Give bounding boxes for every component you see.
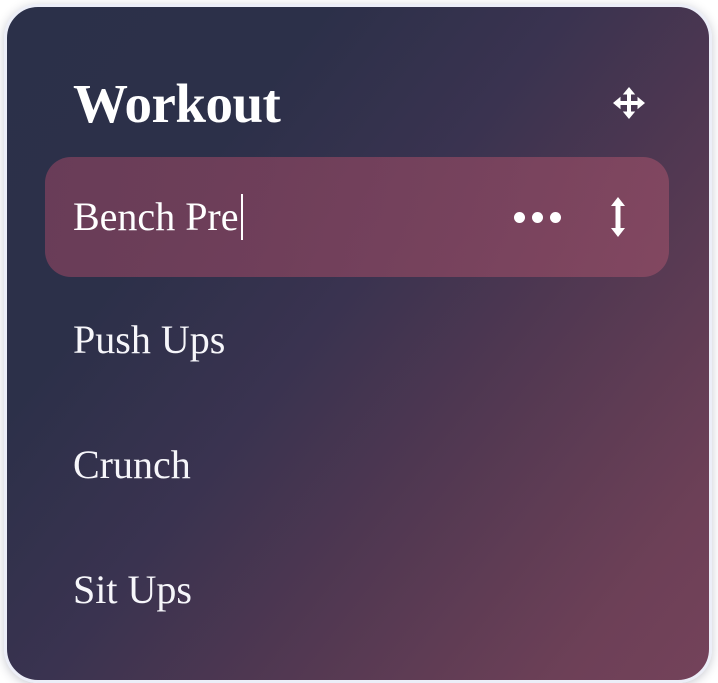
list-item-selected[interactable]: Bench Pre [45, 157, 669, 277]
list-item[interactable]: Crunch [7, 402, 709, 527]
list-item-label: Push Ups [73, 320, 225, 360]
page-title: Workout [73, 76, 280, 131]
dot [550, 212, 561, 223]
exercise-name-field[interactable]: Bench Pre [73, 194, 243, 240]
list-item-label: Sit Ups [73, 570, 192, 610]
exercise-list: Bench Pre [7, 157, 709, 652]
card-header: Workout [7, 61, 709, 145]
text-caret [241, 194, 243, 240]
more-horizontal-icon[interactable] [512, 197, 563, 237]
list-item[interactable]: Sit Ups [7, 527, 709, 652]
dot [514, 212, 525, 223]
list-item[interactable]: Push Ups [7, 277, 709, 402]
row-actions [512, 195, 651, 239]
move-arrows-icon[interactable] [607, 81, 651, 125]
list-item-label: Crunch [73, 445, 191, 485]
vertical-resize-arrows-icon[interactable] [601, 195, 635, 239]
exercise-name-value: Bench Pre [73, 197, 239, 237]
screen: Workout [0, 0, 718, 683]
workout-card: Workout [4, 4, 712, 683]
dot [532, 212, 543, 223]
